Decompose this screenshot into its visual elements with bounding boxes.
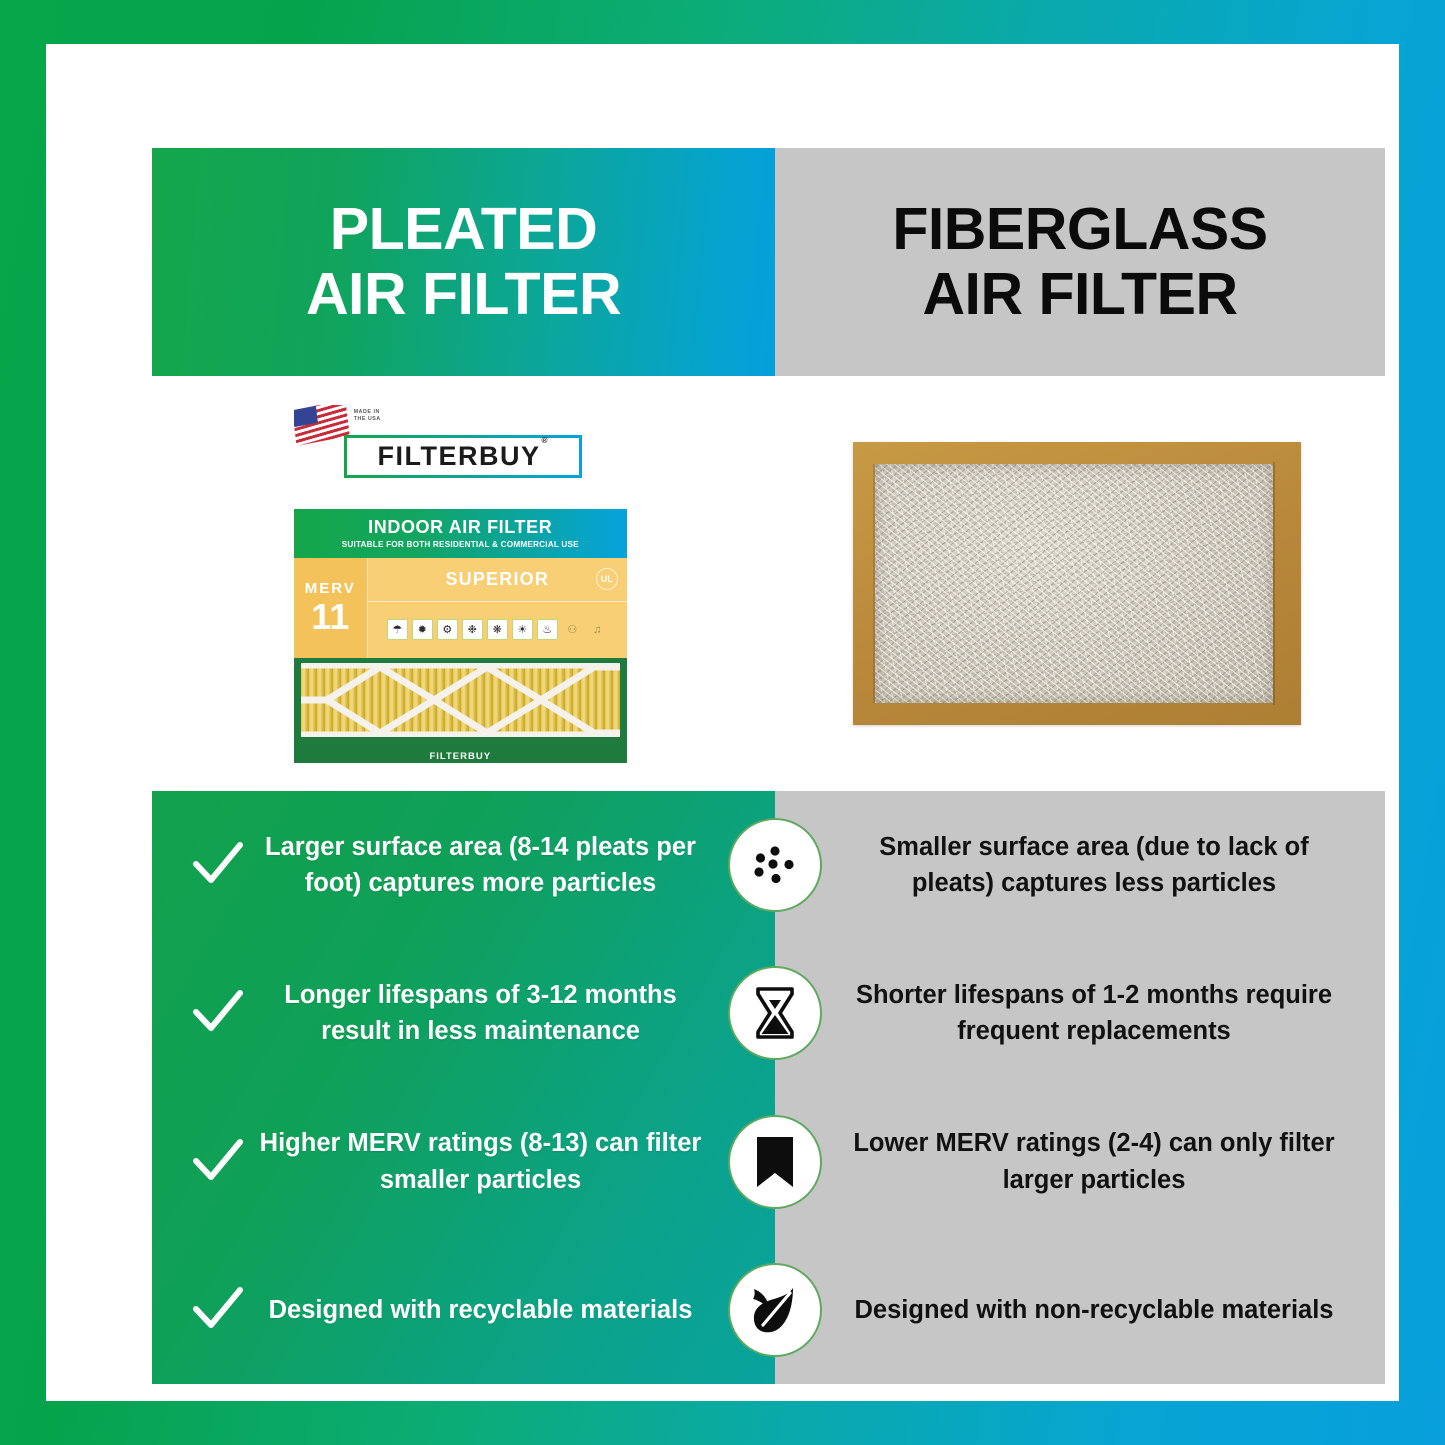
- hourglass-icon: [728, 966, 822, 1060]
- virus-icon: ⚙: [437, 619, 458, 640]
- fiberglass-filter-photo: [853, 442, 1301, 725]
- band-title: INDOOR AIR FILTER: [368, 517, 552, 538]
- feature-pleated-text: Longer lifespans of 3-12 months result i…: [252, 977, 709, 1049]
- feature-pleated-cell: Larger surface area (8-14 pleats per foo…: [152, 791, 775, 939]
- trademark-symbol: ®: [542, 436, 549, 445]
- fiberglass-title: FIBERGLASS AIR FILTER: [892, 197, 1267, 327]
- pleated-title: PLEATED AIR FILTER: [306, 197, 621, 327]
- feature-fiberglass-text: Designed with non-recyclable materials: [855, 1292, 1334, 1328]
- box-top-section: MADE IN THE USA FILTERBUY®: [294, 405, 627, 509]
- particles-icon: [728, 818, 822, 912]
- header-fiberglass: FIBERGLASS AIR FILTER: [775, 148, 1385, 376]
- product-images-row: MADE IN THE USA FILTERBUY® INDOOR AIR FI…: [152, 376, 1385, 791]
- feature-fiberglass-text: Lower MERV ratings (2-4) can only filter…: [837, 1125, 1351, 1197]
- band-subtitle: SUITABLE FOR BOTH RESIDENTIAL & COMMERCI…: [342, 540, 579, 549]
- feature-fiberglass-text: Shorter lifespans of 1-2 months require …: [837, 977, 1351, 1049]
- checkmark-icon: [190, 1138, 246, 1186]
- pet-dander-icon: ☀: [512, 619, 533, 640]
- smoke-icon: ♨: [537, 619, 558, 640]
- merv-value: 11: [311, 599, 349, 635]
- checkmark-icon: [190, 989, 246, 1037]
- feature-rows: Larger surface area (8-14 pleats per foo…: [152, 791, 1385, 1384]
- odor-icon-faded: ♫: [587, 619, 608, 640]
- feature-pleated-cell: Longer lifespans of 3-12 months result i…: [152, 939, 775, 1087]
- usa-flag-icon: [294, 405, 350, 446]
- pollen-icon: ❋: [487, 619, 508, 640]
- made-in-usa-text: MADE IN THE USA: [354, 409, 381, 425]
- feature-fiberglass-cell: Designed with non-recyclable materials: [775, 1236, 1385, 1384]
- grade-label: SUPERIOR: [445, 569, 549, 590]
- feature-row: Larger surface area (8-14 pleats per foo…: [152, 791, 1385, 939]
- dust-icon: ☂: [387, 619, 408, 640]
- feature-pleated-cell: Designed with recyclable materials: [152, 1236, 775, 1384]
- feature-row: Higher MERV ratings (8-13) can filter sm…: [152, 1088, 1385, 1236]
- checkmark-icon: [190, 841, 246, 889]
- frame-seam-left: [873, 464, 875, 703]
- filterbuy-product-box: MADE IN THE USA FILTERBUY® INDOOR AIR FI…: [294, 405, 627, 763]
- header-row: PLEATED AIR FILTER FIBERGLASS AIR FILTER: [152, 148, 1385, 376]
- brand-logo-text: FILTERBUY®: [378, 441, 548, 472]
- header-pleated: PLEATED AIR FILTER: [152, 148, 775, 376]
- feature-pleated-text: Designed with recyclable materials: [252, 1292, 709, 1328]
- feature-pleated-text: Larger surface area (8-14 pleats per foo…: [252, 829, 709, 901]
- infographic-page: PLEATED AIR FILTER FIBERGLASS AIR FILTER…: [0, 0, 1445, 1445]
- bookmark-icon: [728, 1115, 822, 1209]
- checkmark-icon: [190, 1286, 246, 1334]
- merv-label: MERV: [305, 580, 356, 597]
- fiberglass-image-cell: [769, 376, 1386, 791]
- pleat-media: [301, 663, 620, 737]
- frame-seam-right: [1273, 462, 1275, 705]
- diamond-support-grid: [301, 663, 620, 737]
- comparison-feature-section: Larger surface area (8-14 pleats per foo…: [152, 791, 1385, 1384]
- insect-icon: ✹: [412, 619, 433, 640]
- feature-fiberglass-cell: Smaller surface area (due to lack of ple…: [775, 791, 1385, 939]
- grade-row: SUPERIOR UL: [368, 558, 627, 602]
- inner-white-panel: PLEATED AIR FILTER FIBERGLASS AIR FILTER…: [46, 44, 1399, 1401]
- feature-fiberglass-cell: Lower MERV ratings (2-4) can only filter…: [775, 1088, 1385, 1236]
- feature-icon-strip: ☂ ✹ ⚙ ❉ ❋ ☀ ♨ ⚇ ♫: [368, 602, 627, 658]
- ul-certification-icon: UL: [596, 568, 618, 590]
- feature-fiberglass-cell: Shorter lifespans of 1-2 months require …: [775, 939, 1385, 1087]
- feature-row: Designed with recyclable materials Desig…: [152, 1236, 1385, 1384]
- box-pleat-window: FILTERBUY: [294, 658, 627, 763]
- feature-pleated-text: Higher MERV ratings (8-13) can filter sm…: [252, 1125, 709, 1197]
- merv-right-block: SUPERIOR UL ☂ ✹ ⚙ ❉ ❋ ☀: [368, 558, 627, 658]
- merv-block: MERV 11: [294, 558, 368, 658]
- pleated-image-cell: MADE IN THE USA FILTERBUY® INDOOR AIR FI…: [152, 376, 769, 791]
- pill-icon-faded: ⚇: [562, 619, 583, 640]
- comparison-card: PLEATED AIR FILTER FIBERGLASS AIR FILTER…: [152, 148, 1385, 1384]
- feature-pleated-cell: Higher MERV ratings (8-13) can filter sm…: [152, 1088, 775, 1236]
- box-footer-brand: FILTERBUY: [294, 751, 627, 762]
- feature-fiberglass-text: Smaller surface area (due to lack of ple…: [837, 829, 1351, 901]
- box-indoor-band: INDOOR AIR FILTER SUITABLE FOR BOTH RESI…: [294, 509, 627, 558]
- fiberglass-mesh: [875, 464, 1273, 703]
- leaf-eco-icon: [728, 1263, 822, 1357]
- brand-name: FILTERBUY: [378, 441, 541, 471]
- box-merv-section: MERV 11 SUPERIOR UL ☂ ✹: [294, 558, 627, 658]
- bacteria-icon: ❉: [462, 619, 483, 640]
- feature-row: Longer lifespans of 3-12 months result i…: [152, 939, 1385, 1087]
- brand-logo-frame: FILTERBUY®: [344, 435, 582, 478]
